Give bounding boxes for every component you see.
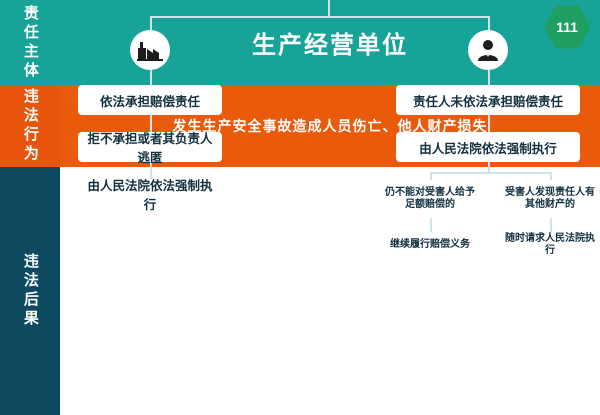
connector-right-pair-split (430, 172, 550, 174)
box-right-2[interactable]: 由人民法院依法强制执行 (396, 132, 580, 162)
connector-right-drop (488, 16, 490, 30)
row-label-subject: 责任主体 (0, 0, 60, 85)
box-left-3[interactable]: 由人民法院依法强制执行 (78, 179, 222, 209)
page-badge-number: 111 (556, 19, 578, 35)
box-right-bottom-2[interactable]: 随时请求人民法院执行 (498, 232, 600, 258)
connector-right-pair-left-drop (430, 172, 432, 180)
box-left-1[interactable]: 依法承担赔偿责任 (78, 85, 222, 115)
row-label-consequence-text: 违法后果 (22, 253, 38, 329)
connector-right-1-2 (488, 115, 490, 132)
box-right-1[interactable]: 责任人未依法承担赔偿责任 (396, 85, 580, 115)
factory-icon (130, 30, 170, 70)
box-right-pair-2[interactable]: 受害人发现责任人有其他财产的 (498, 180, 600, 218)
row-label-consequence: 违法后果 (0, 167, 60, 415)
connector-split (150, 16, 490, 18)
connector-right-2-split (488, 162, 490, 172)
person-icon (468, 30, 508, 70)
connector-right-bottom-left-drop (430, 218, 432, 232)
row-label-act-text: 违法行为 (22, 88, 38, 164)
connector-right-icon-to-box (488, 70, 490, 85)
row-label-subject-text: 责任主体 (22, 5, 38, 81)
connector-right-bottom-right-drop (550, 218, 552, 232)
connector-right-pair-right-drop (550, 172, 552, 180)
box-right-bottom-1[interactable]: 继续履行赔偿义务 (378, 232, 482, 258)
row-label-act: 违法行为 (0, 85, 60, 167)
connector-left-icon-to-box (150, 70, 152, 85)
box-left-2[interactable]: 拒不承担或者其负责人逃匿 (78, 132, 222, 162)
connector-trunk (328, 0, 330, 16)
connector-left-drop (150, 16, 152, 30)
diagram-root: 责任主体 违法行为 违法后果 生产经营单位 111 发生生产安全事故造成人员伤亡… (0, 0, 600, 415)
box-right-pair-1[interactable]: 仍不能对受害人给予足额赔偿的 (378, 180, 482, 218)
